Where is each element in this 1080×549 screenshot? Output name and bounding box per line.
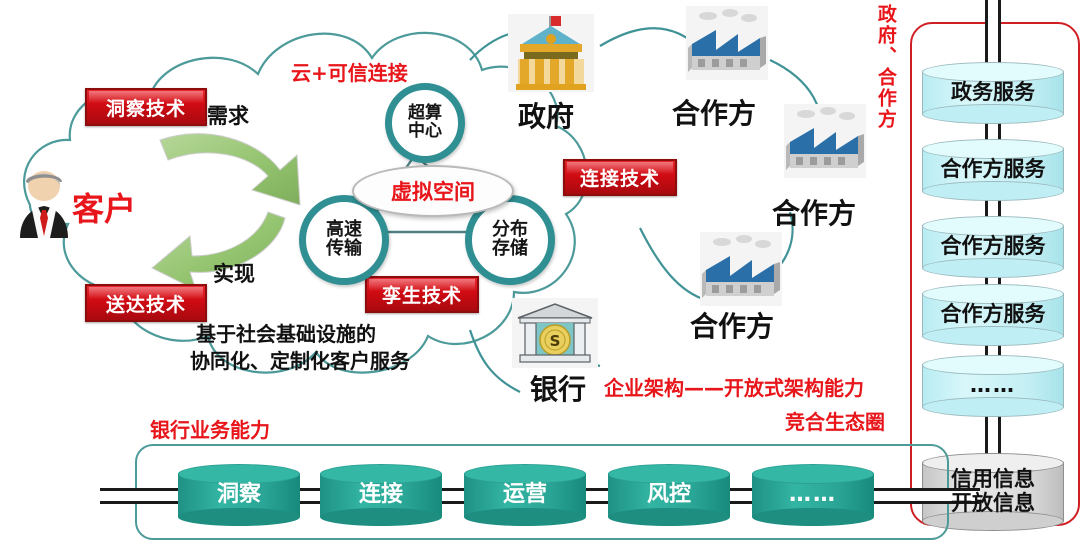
db-partner-service-1[interactable]: 合作方服务 [922,139,1064,201]
db-shared-store[interactable]: 信用信息 开放信息 [922,453,1064,531]
architecture-note-line1: 企业架构——开放式架构能力 [604,372,864,401]
svg-text:S: S [550,332,561,350]
demand-arrow [160,134,300,205]
connect-tech-banner[interactable]: 连接技术 [563,159,677,196]
node-transmission-line2: 传输 [326,238,362,259]
businessman-avatar-icon [12,168,76,240]
entity-label-partner-1: 合作方 [672,92,756,132]
customer-label: 客户 [72,184,136,230]
db-partner-service-2[interactable]: 合作方服务 [922,216,1064,278]
entity-label-government: 政府 [518,95,574,135]
capability-more[interactable]: …… [752,464,874,526]
realize-label: 实现 [213,258,255,288]
right-column-vertical-label: 政府、合作方 [874,4,896,184]
db-label: 合作方服务 [922,284,1064,346]
shared-store-line2: 开放信息 [951,491,1035,515]
capability-operate[interactable]: 运营 [464,464,586,526]
entity-label-partner-3: 合作方 [690,305,774,345]
bank-building-icon: S [512,298,598,368]
capability-label: …… [752,464,874,526]
capability-riskcontrol[interactable]: 风控 [608,464,730,526]
capability-label: 洞察 [178,464,300,526]
capability-label: 风控 [608,464,730,526]
node-transmission-line1: 高速 [326,219,362,240]
factory-icon-2 [784,104,866,178]
connector-partner1 [600,28,700,48]
factory-icon-1 [686,6,768,80]
db-label: 信用信息 开放信息 [922,453,1064,531]
capability-insight[interactable]: 洞察 [178,464,300,526]
node-storage-line1: 分布 [492,219,528,240]
capability-label: 运营 [464,464,586,526]
node-supercompute[interactable]: 超算 中心 [385,83,465,163]
db-label: 合作方服务 [922,139,1064,201]
service-text-line1: 基于社会基础设施的 [196,318,376,347]
node-supercompute-line2: 中心 [408,121,442,141]
capability-connect[interactable]: 连接 [320,464,442,526]
twin-tech-banner[interactable]: 孪生技术 [365,276,479,313]
db-label: 合作方服务 [922,216,1064,278]
bank-capability-label: 银行业务能力 [150,414,270,443]
architecture-note-line2: 竞合生态圈 [785,406,885,435]
capability-label: 连接 [320,464,442,526]
db-more-services[interactable]: …… [922,355,1064,417]
db-label: …… [922,355,1064,417]
db-partner-service-3[interactable]: 合作方服务 [922,284,1064,346]
connector-partner3b [640,228,706,300]
cloud-trusted-connection-label: 云+可信连接 [291,57,408,86]
government-building-icon [508,14,594,92]
diagram-canvas: 客户 云+可信连接 洞察技术 送达技术 孪生技术 需求 实现 基于社会基础设施的… [0,0,1080,549]
shared-store-line1: 信用信息 [951,467,1035,491]
db-gov-service[interactable]: 政务服务 [922,62,1064,124]
factory-icon-3 [700,232,782,306]
virtual-space-ellipse[interactable]: 虚拟空间 [352,165,514,217]
node-storage-line2: 存储 [492,238,528,259]
demand-label: 需求 [207,100,249,130]
entity-label-bank: 银行 [530,368,586,408]
service-text-line2: 协同化、定制化客户服务 [190,345,410,374]
db-label: 政务服务 [922,62,1064,124]
entity-label-partner-2: 合作方 [772,192,856,232]
insight-tech-banner[interactable]: 洞察技术 [85,88,207,126]
delivery-tech-banner[interactable]: 送达技术 [85,284,207,322]
